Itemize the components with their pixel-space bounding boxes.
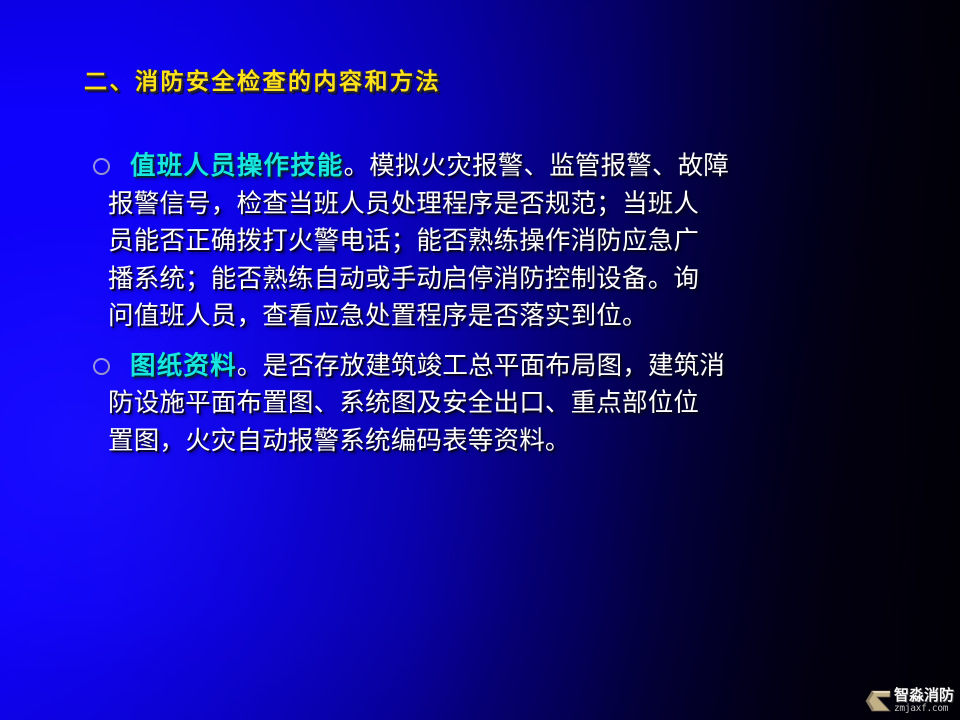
watermark-url: zmjaxf.com	[894, 704, 954, 714]
bullet-list: 值班人员操作技能。模拟火灾报警、监管报警、故障 报警信号，检查当班人员处理程序是…	[0, 148, 960, 472]
bullet-line: 防设施平面布置图、系统图及安全出口、重点部位位	[108, 385, 920, 423]
bullet-line: 置图，火灾自动报警系统编码表等资料。	[108, 423, 920, 461]
bullet-item: 值班人员操作技能。模拟火灾报警、监管报警、故障 报警信号，检查当班人员处理程序是…	[0, 148, 960, 336]
filled-circle-bullet-icon	[95, 160, 108, 173]
bullet-line: 员能否正确拨打火警电话；能否熟练操作消防应急广	[108, 223, 920, 261]
slide-content: 二、消防安全检查的内容和方法 值班人员操作技能。模拟火灾报警、监管报警、故障 报…	[0, 0, 960, 720]
bullet-line-text: 。模拟火灾报警、监管报警、故障	[344, 151, 730, 181]
watermark-brand: 智淼消防	[894, 688, 954, 703]
watermark: 智淼消防 zmjaxf.com	[865, 688, 954, 714]
bullet-line: 值班人员操作技能。模拟火灾报警、监管报警、故障	[130, 148, 920, 186]
filled-circle-bullet-icon	[95, 360, 108, 373]
bullet-line: 问值班人员，查看应急处置程序是否落实到位。	[108, 298, 920, 336]
bullet-line: 图纸资料。是否存放建筑竣工总平面布局图，建筑消	[130, 348, 920, 386]
bullet-line: 报警信号，检查当班人员处理程序是否规范；当班人	[108, 186, 920, 224]
bullet-text-block: 值班人员操作技能。模拟火灾报警、监管报警、故障 报警信号，检查当班人员处理程序是…	[0, 148, 960, 336]
bullet-item: 图纸资料。是否存放建筑竣工总平面布局图，建筑消 防设施平面布置图、系统图及安全出…	[0, 348, 960, 461]
presentation-slide: 二、消防安全检查的内容和方法 值班人员操作技能。模拟火灾报警、监管报警、故障 报…	[0, 0, 960, 720]
bullet-lead-term: 图纸资料	[130, 351, 237, 381]
bullet-line-text: 。是否存放建筑竣工总平面布局图，建筑消	[237, 351, 725, 381]
bullet-text-block: 图纸资料。是否存放建筑竣工总平面布局图，建筑消 防设施平面布置图、系统图及安全出…	[0, 348, 960, 461]
watermark-text: 智淼消防 zmjaxf.com	[894, 688, 954, 714]
zm-monogram-logo-icon	[865, 688, 891, 714]
slide-title: 二、消防安全检查的内容和方法	[84, 62, 441, 96]
bullet-lead-term: 值班人员操作技能	[130, 151, 344, 181]
bullet-line: 播系统；能否熟练自动或手动启停消防控制设备。询	[108, 261, 920, 299]
